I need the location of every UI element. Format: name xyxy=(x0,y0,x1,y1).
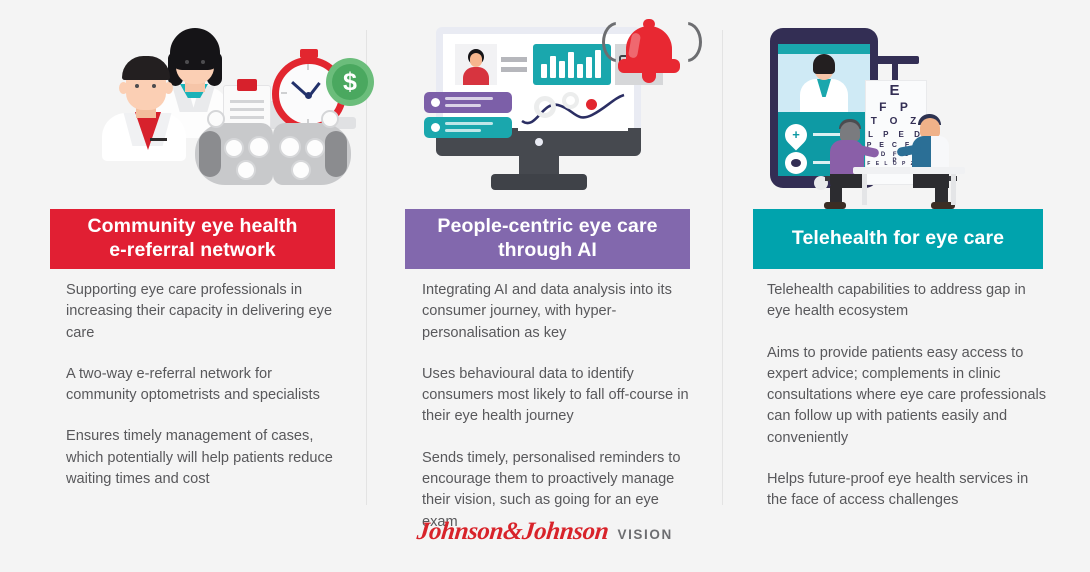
avatar-face xyxy=(470,53,482,67)
male-doctor-pocket xyxy=(150,138,167,141)
bullet-item: Uses behavioural data to identify consum… xyxy=(422,364,690,428)
phoropter-left-side xyxy=(199,131,221,177)
bullet-list-people-centric: Integrating AI and data analysis into it… xyxy=(422,280,690,553)
monitor-power-dot xyxy=(535,138,543,146)
logo-vision-text: VISION xyxy=(617,527,672,542)
column-title-banner-telehealth: Telehealth for eye care xyxy=(753,209,1043,269)
bullet-item: Aims to provide patients easy access to … xyxy=(767,343,1047,449)
male-doctor-eye-right xyxy=(152,84,156,88)
bullet-item: Ensures timely management of cases, whic… xyxy=(66,426,334,490)
card-text-line xyxy=(445,104,481,107)
bullet-item: Integrating AI and data analysis into it… xyxy=(422,280,690,344)
clipboard-clip xyxy=(237,79,257,91)
female-doctor-eye-right xyxy=(201,60,205,64)
stopwatch-pin xyxy=(305,92,312,99)
clipboard-line xyxy=(230,108,264,111)
chart-bar xyxy=(559,61,565,78)
bullet-item: Supporting eye care professionals in inc… xyxy=(66,280,334,344)
gear-icon xyxy=(562,92,579,109)
patient-shoe xyxy=(824,202,846,209)
chart-bar xyxy=(550,56,556,78)
phoropter-lens xyxy=(248,136,270,158)
monitor-foot xyxy=(491,174,587,190)
phoropter-lens xyxy=(224,138,244,158)
bell-sound-wave-right xyxy=(672,22,702,62)
bullet-list-telehealth: Telehealth capabilities to address gap i… xyxy=(767,280,1047,532)
equals-bar xyxy=(501,67,527,72)
patient-head xyxy=(840,122,860,141)
bullet-item: Telehealth capabilities to address gap i… xyxy=(767,280,1047,323)
avatar-body xyxy=(463,67,489,85)
clipboard-line xyxy=(230,116,264,119)
column-title-text: People-centric eye care through AI xyxy=(437,215,657,263)
card-text-line xyxy=(445,129,481,132)
column-community-eye-health: $ Community eye health e-referral networ… xyxy=(40,0,360,520)
male-doctor-hair xyxy=(122,56,170,80)
chart-bar xyxy=(586,57,592,78)
notification-dot xyxy=(431,123,440,132)
chart-bar xyxy=(595,50,601,78)
eye-chart-pole xyxy=(892,62,898,82)
phoropter-knob-right xyxy=(321,110,339,128)
bullet-item: A two-way e-referral network for communi… xyxy=(66,364,334,407)
infographic-canvas: $ Community eye health e-referral networ… xyxy=(0,0,1090,572)
column-people-centric-eye-care: People-centric eye care through AI Integ… xyxy=(396,0,706,520)
column-title-text: Community eye health e-referral network xyxy=(87,215,297,263)
eye-drop-plus-mark: + xyxy=(791,130,801,140)
eye-chart-row: F P xyxy=(865,100,927,114)
column-title-banner-community: Community eye health e-referral network xyxy=(50,209,335,269)
consultation-table-top xyxy=(853,167,965,174)
dollar-sign-label: $ xyxy=(326,58,374,106)
table-leg-left xyxy=(862,173,867,205)
card-text-line xyxy=(445,122,493,125)
bullet-list-community: Supporting eye care professionals in inc… xyxy=(66,280,334,510)
phoropter-lens xyxy=(279,136,301,158)
notification-dot xyxy=(431,98,440,107)
female-doctor-eye-left xyxy=(185,60,189,64)
column-telehealth-for-eye-care: + E F P T O Z L P E D P E C F D E D F C … xyxy=(745,0,1055,520)
column-title-text: Telehealth for eye care xyxy=(792,227,1004,251)
video-doctor-hair xyxy=(813,54,835,74)
ai-dashboard-monitor-illustration xyxy=(396,0,706,195)
phoropter-lens xyxy=(291,160,311,180)
phoropter-knob-left xyxy=(207,110,225,128)
gear-icon xyxy=(534,96,556,118)
chart-bar xyxy=(541,64,547,78)
stopwatch-tick xyxy=(307,64,309,70)
column-title-banner-people-centric: People-centric eye care through AI xyxy=(405,209,690,269)
table-leg-right xyxy=(951,173,956,205)
video-call-header-bar xyxy=(778,44,870,54)
eye-care-professionals-illustration: $ xyxy=(40,0,360,195)
phoropter-lens xyxy=(236,160,256,180)
male-doctor-eye-left xyxy=(135,84,139,88)
trend-highlight-dot xyxy=(586,99,597,110)
column-divider-2 xyxy=(722,30,723,505)
eye-chart-row: E xyxy=(865,82,927,99)
telehealth-phone-illustration: + E F P T O Z L P E D P E C F D E D F C … xyxy=(745,0,1055,195)
card-text-line xyxy=(445,97,493,100)
optometrist-head xyxy=(920,118,940,137)
eye-iris xyxy=(791,159,801,167)
johnson-johnson-vision-logo: Johnson&Johnson VISION xyxy=(0,518,1090,546)
chart-bar xyxy=(577,64,583,78)
bullet-item: Helps future-proof eye health services i… xyxy=(767,469,1047,512)
female-doctor-hair xyxy=(170,28,220,70)
clipboard-line xyxy=(230,100,264,103)
equals-bar xyxy=(501,57,527,62)
logo-wordmark: Johnson&Johnson xyxy=(416,518,610,546)
phoropter-lens xyxy=(305,138,325,158)
phoropter-right-side xyxy=(325,131,347,177)
stopwatch-tick xyxy=(281,92,287,94)
chart-bar xyxy=(568,52,574,78)
